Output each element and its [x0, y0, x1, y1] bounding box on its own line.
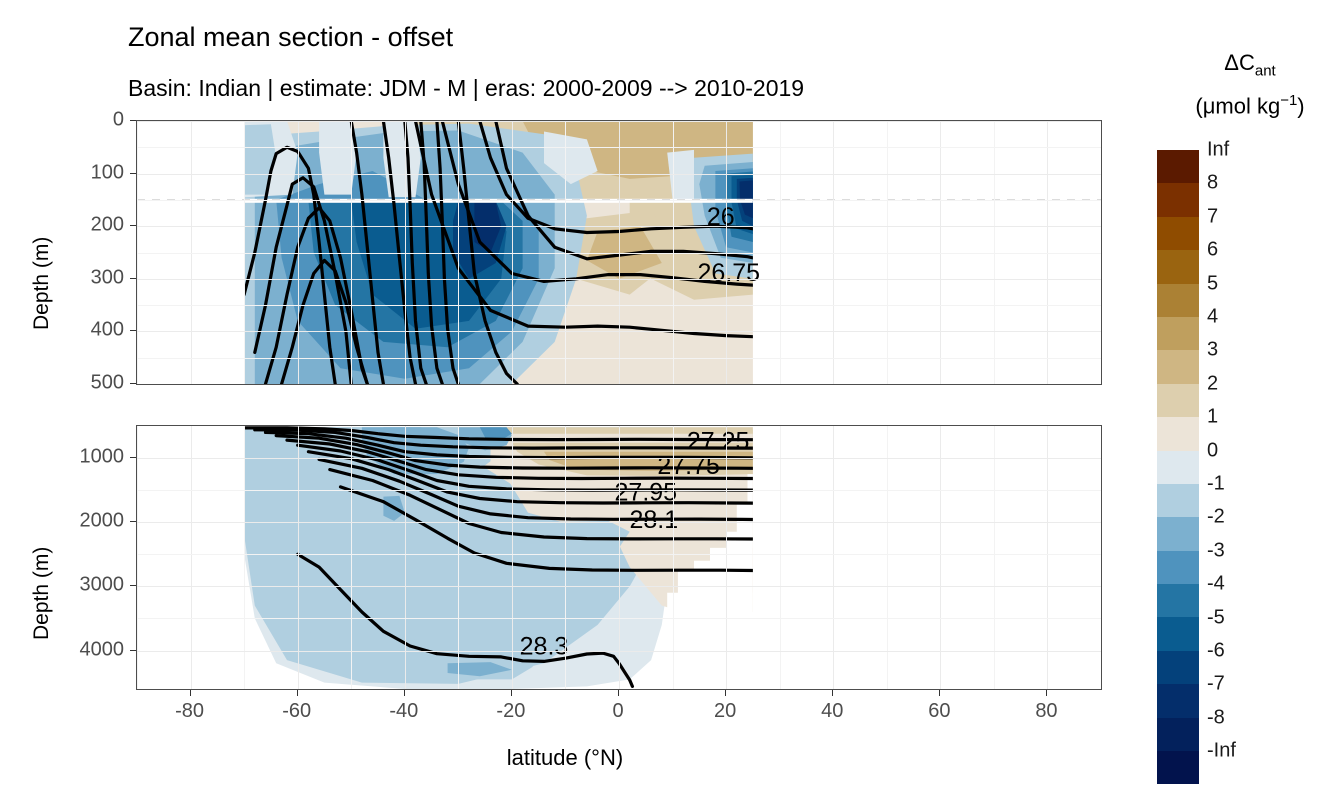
lower-y-tick	[130, 585, 136, 586]
lower-y-tick-label: 4000	[40, 638, 124, 661]
contour-label: 26.75	[698, 259, 761, 287]
x-tick	[297, 690, 298, 696]
legend-tick-label: 3	[1207, 339, 1218, 362]
legend-units-suffix: )	[1297, 94, 1304, 119]
gridline-horizontal	[137, 279, 1101, 280]
x-tick	[618, 690, 619, 696]
legend-swatch	[1157, 718, 1199, 751]
legend-tick-label: 2	[1207, 372, 1218, 395]
legend-swatch	[1157, 350, 1199, 383]
x-tick-label: 60	[928, 700, 950, 723]
x-tick-label: -60	[282, 700, 311, 723]
upper-y-tick	[130, 383, 136, 384]
legend-tick-label: -Inf	[1207, 740, 1236, 763]
legend-tick-label: 5	[1207, 272, 1218, 295]
legend-swatch	[1157, 484, 1199, 517]
gridline-vertical-minor	[1101, 426, 1102, 689]
legend-swatch	[1157, 384, 1199, 417]
gridline-horizontal	[137, 226, 1101, 227]
legend-title-main: ΔC	[1224, 50, 1255, 75]
figure-title: Zonal mean section - offset	[128, 22, 453, 53]
gridline-horizontal	[137, 384, 1101, 385]
legend-tick-label: 7	[1207, 205, 1218, 228]
gridline-horizontal	[137, 651, 1101, 652]
upper-panel: 2626.75	[136, 120, 1102, 385]
x-tick-label: 80	[1035, 700, 1057, 723]
legend-tick-label: -2	[1207, 506, 1225, 529]
x-tick	[832, 690, 833, 696]
legend-tick-label: -4	[1207, 573, 1225, 596]
upper-y-tick	[130, 225, 136, 226]
lower-y-tick	[130, 650, 136, 651]
contour-label: 27.75	[657, 452, 720, 480]
lower-y-axis-title: Depth (m)	[30, 547, 54, 640]
figure-root: Zonal mean section - offset Basin: India…	[0, 0, 1344, 806]
x-tick	[190, 690, 191, 696]
gridline-horizontal	[137, 586, 1101, 587]
legend-tick-label: -3	[1207, 539, 1225, 562]
legend-tick-label: 8	[1207, 172, 1218, 195]
legend-units-exponent: −1	[1280, 92, 1297, 109]
legend-tick-label: -7	[1207, 673, 1225, 696]
x-tick	[404, 690, 405, 696]
legend-swatch	[1157, 751, 1199, 784]
gridline-horizontal-minor	[137, 554, 1101, 555]
x-tick-label: 0	[612, 700, 623, 723]
upper-y-tick	[130, 330, 136, 331]
gridline-horizontal	[137, 522, 1101, 523]
gridline-horizontal-minor	[137, 490, 1101, 491]
contour-label: 27.95	[615, 479, 678, 507]
legend-units-prefix: (μmol kg	[1195, 94, 1280, 119]
contour-label: 28.3	[520, 633, 569, 661]
upper-y-axis-title: Depth (m)	[30, 237, 54, 330]
upper-y-tick-label: 500	[40, 372, 124, 395]
legend-tick-label: -6	[1207, 640, 1225, 663]
gridline-horizontal	[137, 174, 1101, 175]
lower-panel: 27.2527.7527.9528.128.3	[136, 425, 1102, 690]
legend-swatch	[1157, 284, 1199, 317]
legend-title: ΔCant (μmol kg−1)	[1160, 48, 1340, 122]
legend-title-subscript: ant	[1255, 62, 1276, 79]
x-tick-label: -40	[389, 700, 418, 723]
legend-swatch	[1157, 684, 1199, 717]
legend-swatch	[1157, 317, 1199, 350]
lower-y-tick-label: 2000	[40, 510, 124, 533]
x-tick-label: 20	[714, 700, 736, 723]
legend-tick-label: -5	[1207, 606, 1225, 629]
legend-swatch	[1157, 451, 1199, 484]
upper-y-tick-label: 0	[40, 109, 124, 132]
legend-swatch	[1157, 150, 1199, 183]
gridline-vertical-minor	[1101, 121, 1102, 384]
gridline-horizontal-minor	[137, 147, 1101, 148]
gridline-horizontal-minor	[137, 305, 1101, 306]
gridline-horizontal-minor	[137, 200, 1101, 201]
legend-swatch	[1157, 517, 1199, 550]
legend-swatch	[1157, 217, 1199, 250]
legend-swatch	[1157, 651, 1199, 684]
upper-y-tick-label: 200	[40, 214, 124, 237]
legend-tick-label: Inf	[1207, 139, 1229, 162]
x-tick	[511, 690, 512, 696]
x-tick	[939, 690, 940, 696]
legend-swatch	[1157, 551, 1199, 584]
legend-tick-label: -8	[1207, 706, 1225, 729]
lower-y-tick	[130, 457, 136, 458]
upper-y-tick	[130, 278, 136, 279]
legend-swatch	[1157, 250, 1199, 283]
gridline-horizontal-minor	[137, 358, 1101, 359]
lower-y-tick	[130, 521, 136, 522]
gridline-horizontal-minor	[137, 253, 1101, 254]
x-axis-title: latitude (°N)	[0, 745, 1130, 771]
legend-colorbar	[1157, 150, 1199, 784]
legend-swatch	[1157, 417, 1199, 450]
upper-y-tick	[130, 173, 136, 174]
legend-swatch	[1157, 617, 1199, 650]
legend-swatch	[1157, 584, 1199, 617]
x-tick-label: -80	[175, 700, 204, 723]
x-tick	[725, 690, 726, 696]
lower-y-tick-label: 1000	[40, 446, 124, 469]
gridline-horizontal	[137, 458, 1101, 459]
figure-subtitle: Basin: Indian | estimate: JDM - M | eras…	[128, 75, 804, 102]
legend-tick-label: 4	[1207, 306, 1218, 329]
x-tick-label: 40	[821, 700, 843, 723]
legend-tick-label: 1	[1207, 406, 1218, 429]
contour-label: 28.1	[629, 506, 678, 534]
upper-y-tick-label: 100	[40, 161, 124, 184]
legend-tick-label: 6	[1207, 239, 1218, 262]
legend-tick-label: 0	[1207, 439, 1218, 462]
x-tick-label: -20	[496, 700, 525, 723]
gridline-horizontal	[137, 331, 1101, 332]
x-tick	[1046, 690, 1047, 696]
legend-tick-label: -1	[1207, 473, 1225, 496]
gridline-horizontal-minor	[137, 618, 1101, 619]
upper-y-tick	[130, 120, 136, 121]
legend-swatch	[1157, 183, 1199, 216]
gridline-horizontal	[137, 121, 1101, 122]
